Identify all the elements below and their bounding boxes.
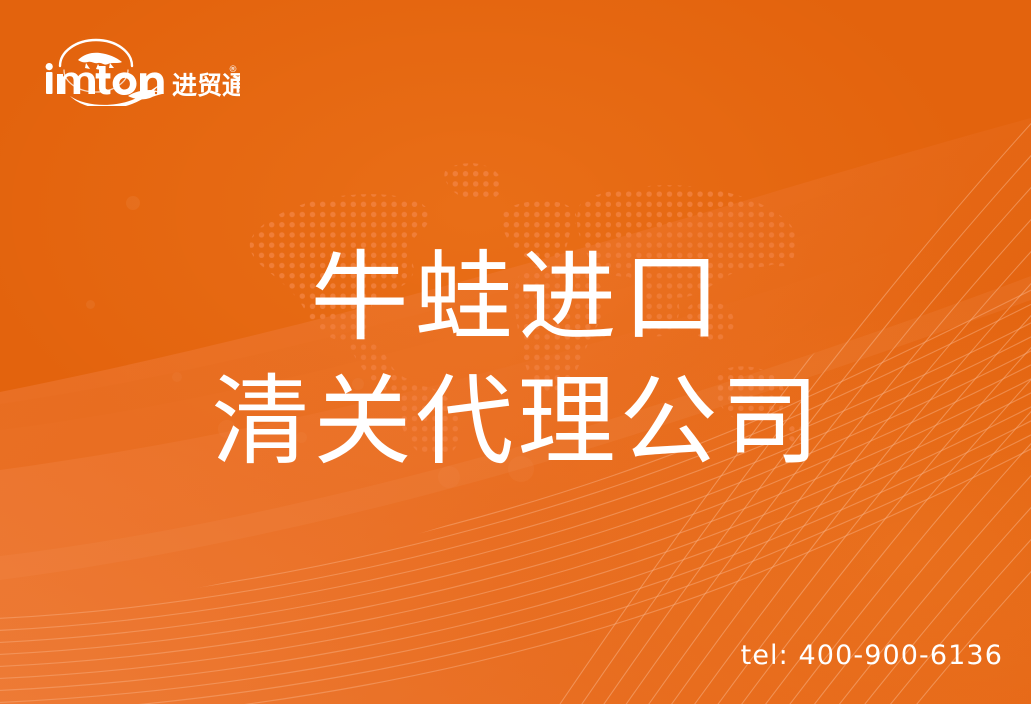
globe-arc-icon: [60, 40, 132, 92]
headline: 牛蛙进口 清关代理公司: [0, 236, 1031, 484]
promo-banner: 进贸通 ® 牛蛙进口 清关代理公司 tel: 400-900-6136: [0, 0, 1031, 704]
headline-line-2: 清关代理公司: [0, 360, 1031, 484]
headline-line-1: 牛蛙进口: [0, 236, 1031, 360]
bokeh-dot: [126, 196, 140, 210]
trademark-icon: ®: [229, 65, 238, 75]
brand-chinese-text: 进贸通: [172, 71, 240, 100]
phone-number[interactable]: tel: 400-900-6136: [741, 640, 1003, 672]
brand-logo[interactable]: 进贸通 ®: [40, 28, 240, 106]
